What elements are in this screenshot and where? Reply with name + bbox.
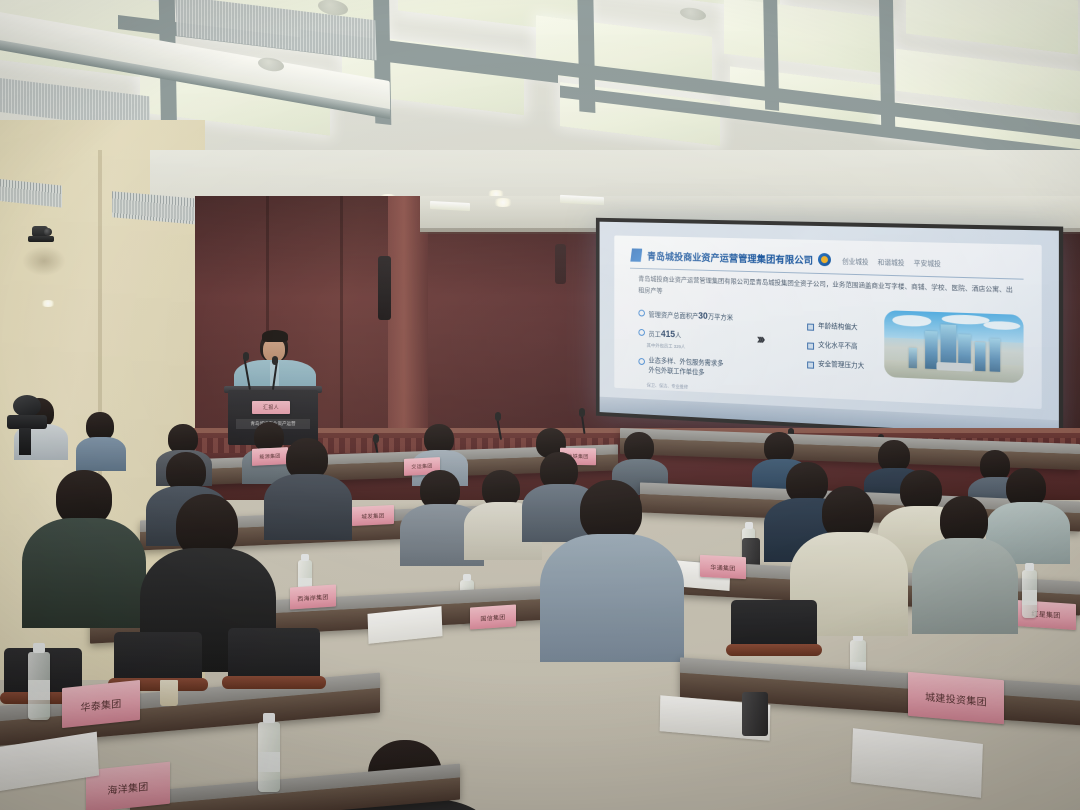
bullet-circle-icon: [638, 309, 645, 316]
water-bottle: [1022, 570, 1037, 618]
presentation-slide: 青岛城投商业资产运营管理集团有限公司 创业城投 和谐城投 平安城投 青岛城投商业…: [614, 235, 1041, 409]
bullet-text: 员工415人: [649, 328, 682, 342]
microphone-head: [373, 434, 379, 443]
microphone-head: [495, 412, 501, 421]
bullet-text: 年龄结构偏大: [818, 322, 858, 333]
chevron-right-icon: ›››: [757, 331, 763, 348]
name-card: 华通集团: [700, 555, 746, 579]
bullet-text: 业态多样、外包服务需求多外包外联工作单位多: [649, 357, 724, 380]
name-card: 城建投资集团: [908, 672, 1004, 724]
name-card: 能源集团: [252, 447, 288, 466]
water-bottle: [28, 652, 50, 720]
wall-speaker: [555, 244, 566, 284]
podium-nameplate: 汇报人: [252, 401, 290, 414]
paper-cup: [160, 680, 178, 706]
building-photo: [885, 310, 1023, 384]
desk-row-1: [130, 764, 460, 810]
flag-icon: [630, 248, 642, 262]
ptz-camera-icon: [28, 226, 54, 243]
microphone-head: [243, 352, 249, 361]
wall-speaker: [378, 256, 391, 320]
name-card: 华泰集团: [62, 680, 140, 728]
bullet-circle-icon: [638, 358, 645, 365]
company-logo-icon: [818, 253, 831, 266]
slide-header: 青岛城投商业资产运营管理集团有限公司 创业城投 和谐城投 平安城投: [630, 243, 1023, 277]
chair: [726, 600, 822, 662]
thermos-tumbler: [742, 692, 768, 736]
projection-screen: 青岛城投商业资产运营管理集团有限公司 创业城投 和谐城投 平安城投 青岛城投商业…: [596, 218, 1063, 442]
microphone-head: [272, 356, 278, 365]
slide-title: 青岛城投商业资产运营管理集团有限公司: [647, 248, 813, 266]
tagline-3: 平安城投: [914, 257, 941, 268]
bullet-circle-icon: [638, 329, 645, 336]
name-card: 西海岸集团: [290, 584, 336, 609]
name-card: 国信集团: [470, 604, 516, 629]
bullet-text: 文化水平不高: [818, 341, 858, 353]
bullet-item: 管理资产总面积产30万平方米: [638, 308, 811, 328]
tagline-1: 创业城投: [842, 255, 869, 266]
bullet-subnote: 保卫、保洁、专业维修: [647, 382, 812, 396]
bullet-square-icon: [807, 323, 814, 330]
video-camera-rig: [5, 395, 49, 455]
document-paper: [367, 606, 442, 644]
conference-hall-photo: 青岛城投商业资产运营管理集团有限公司 创业城投 和谐城投 平安城投 青岛城投商业…: [0, 0, 1080, 810]
screen-surface: 青岛城投商业资产运营管理集团有限公司 创业城投 和谐城投 平安城投 青岛城投商业…: [600, 222, 1059, 437]
slide-body-text: 青岛城投商业资产运营管理集团有限公司是青岛城投集团全资子公司，业务范围涵盖商业写…: [638, 274, 1014, 310]
document-paper: [851, 728, 983, 798]
microphone-head: [579, 408, 585, 417]
chair: [222, 628, 326, 696]
bullet-square-icon: [807, 342, 814, 349]
tagline-group: 创业城投 和谐城投 平安城投: [842, 255, 941, 268]
slide-left-bullets: 管理资产总面积产30万平方米 员工415人 其中外包员工 329人 业态多样、外…: [638, 308, 811, 396]
bullet-item: 业态多样、外包服务需求多外包外联工作单位多: [638, 356, 811, 383]
bullet-square-icon: [807, 361, 814, 368]
bullet-text: 管理资产总面积产30万平方米: [649, 308, 734, 324]
bullet-text: 安全管理压力大: [818, 360, 864, 372]
name-card: 城发集团: [352, 505, 394, 526]
water-bottle: [258, 722, 280, 792]
tagline-2: 和谐城投: [878, 256, 905, 267]
